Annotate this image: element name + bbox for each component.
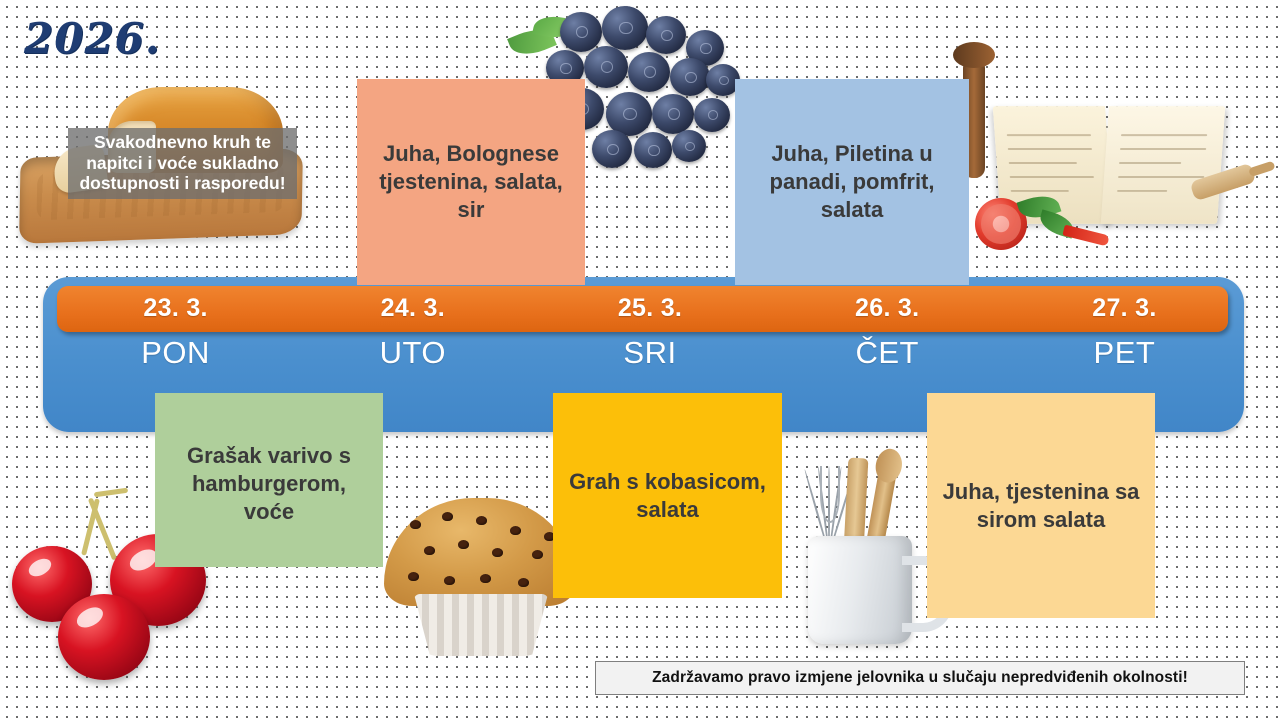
cherry-icon [58,594,150,680]
day-date: 26. 3. [855,286,919,332]
day-name: ČET [855,335,919,371]
day-date: 24. 3. [381,286,445,332]
day-date: 23. 3. [143,286,207,332]
day-name: UTO [380,335,446,371]
blueberry-icon [628,52,670,92]
day-column-friday[interactable]: 27. 3. PET [1006,286,1243,396]
day-column-thursday[interactable]: 26. 3. ČET [769,286,1006,396]
blueberry-icon [592,130,632,168]
blueberry-icon [584,46,628,88]
blueberry-icon [652,94,694,134]
cookbook-image [955,48,1255,268]
meal-text-monday: Grašak varivo s hamburgerom, voće [167,442,371,525]
meal-card-monday-bottom: Grašak varivo s hamburgerom, voće [155,393,383,567]
day-name: PET [1094,335,1156,371]
blueberry-icon [560,12,602,52]
blueberry-icon [602,6,648,50]
meal-card-tuesday-top: Juha, Bolognese tjestenina, salata, sir [357,79,585,285]
blueberry-icon [694,98,730,132]
day-column-wednesday[interactable]: 25. 3. SRI [531,286,768,396]
utensils-jug-image [790,448,950,648]
day-date: 27. 3. [1092,286,1156,332]
page-title-year: 2026. [24,14,161,63]
blueberry-icon [672,130,706,162]
meal-text-wednesday: Grah s kobasicom, salata [565,468,770,523]
meal-card-thursday-top: Juha, Piletina u panadi, pomfrit, salata [735,79,969,285]
blueberry-icon [634,132,672,168]
daily-notice-box: Svakodnevno kruh te napitci i voće sukla… [68,128,297,199]
day-date: 25. 3. [618,286,682,332]
day-column-tuesday[interactable]: 24. 3. UTO [294,286,531,396]
meal-card-friday-bottom: Juha, tjestenina sa sirom salata [927,393,1155,618]
cookbook-right-page [1101,106,1226,224]
day-name: PON [141,335,210,371]
day-column-monday[interactable]: 23. 3. PON [57,286,294,396]
meal-text-tuesday: Juha, Bolognese tjestenina, salata, sir [369,140,573,223]
days-row: 23. 3. PON 24. 3. UTO 25. 3. SRI 26. 3. … [57,286,1243,396]
muffin-paper-cup-icon [414,594,548,656]
meal-card-wednesday-bottom: Grah s kobasicom, salata [553,393,782,598]
meal-text-friday: Juha, tjestenina sa sirom salata [939,478,1143,533]
muffin-top-icon [384,498,576,606]
chili-pepper-icon [1062,225,1109,247]
ceramic-jug-icon [808,536,912,644]
day-name: SRI [623,335,676,371]
disclaimer-note: Zadržavamo pravo izmjene jelovnika u slu… [595,661,1245,695]
meal-text-thursday: Juha, Piletina u panadi, pomfrit, salata [747,140,957,223]
blueberry-icon [646,16,686,54]
blueberry-icon [670,58,710,96]
